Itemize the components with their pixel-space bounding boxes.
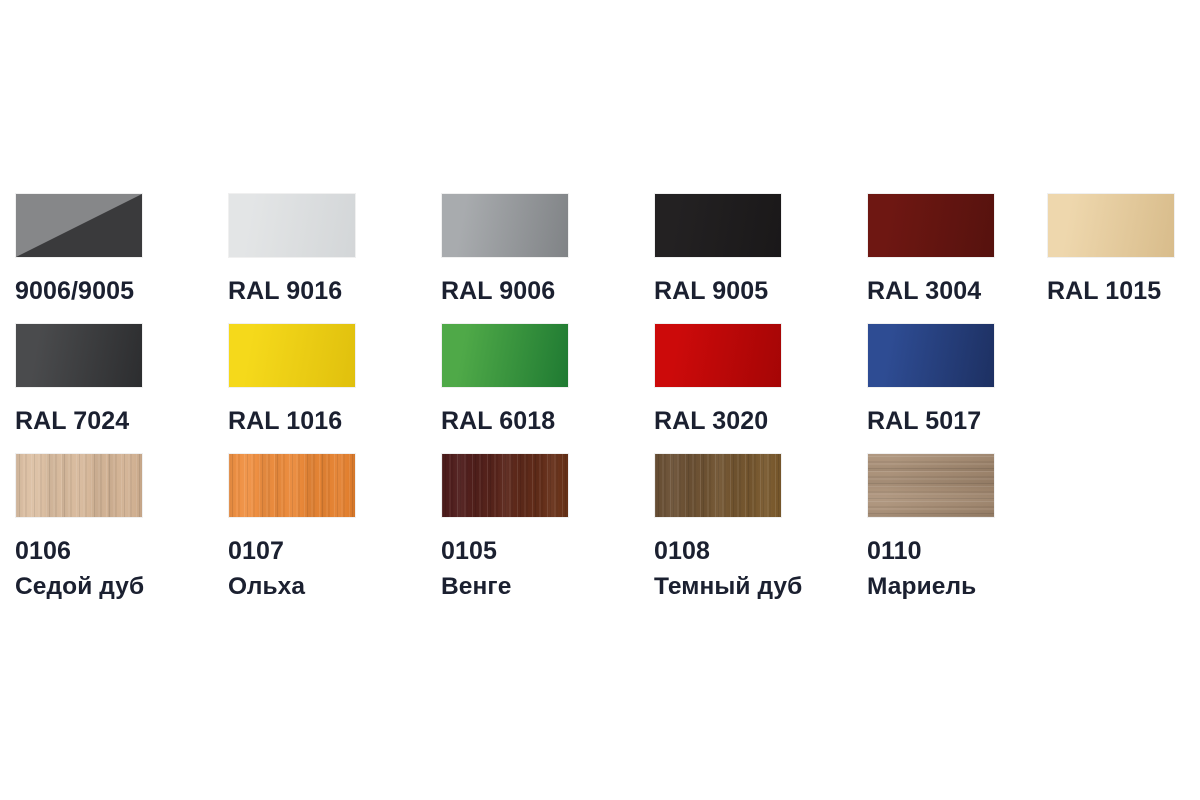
swatch-label-block: 0106Седой дуб bbox=[15, 534, 144, 604]
swatch-code-label: RAL 9006 bbox=[441, 274, 569, 310]
swatch-name-label: Седой дуб bbox=[15, 570, 144, 605]
swatch-code-label: RAL 5017 bbox=[867, 404, 995, 440]
swatch-fill bbox=[655, 454, 781, 517]
swatch-cell-ral-7024[interactable]: RAL 7024 bbox=[15, 323, 143, 440]
swatch-label-block: RAL 1015 bbox=[1047, 274, 1175, 310]
swatch-cell-0108[interactable]: 0108Темный дуб bbox=[654, 453, 802, 604]
swatch-label-block: RAL 9006 bbox=[441, 274, 569, 310]
swatch-label-block: RAL 9005 bbox=[654, 274, 782, 310]
swatch-fill bbox=[1048, 194, 1174, 257]
swatch-cell-9006-9005[interactable]: 9006/9005 bbox=[15, 193, 143, 310]
swatch-name-label: Ольха bbox=[228, 570, 356, 605]
swatch-label-block: 9006/9005 bbox=[15, 274, 143, 310]
swatch-code-label: 0105 bbox=[441, 534, 569, 570]
swatch-cell-0106[interactable]: 0106Седой дуб bbox=[15, 453, 144, 604]
swatch-chip[interactable] bbox=[867, 323, 995, 388]
swatch-code-label: 0107 bbox=[228, 534, 356, 570]
swatch-label-block: 0108Темный дуб bbox=[654, 534, 802, 604]
swatch-code-label: RAL 9016 bbox=[228, 274, 356, 310]
swatch-code-label: 0108 bbox=[654, 534, 802, 570]
swatch-chip[interactable] bbox=[1047, 193, 1175, 258]
swatch-fill bbox=[655, 194, 781, 257]
swatch-code-label: RAL 3020 bbox=[654, 404, 782, 440]
swatch-label-block: RAL 3004 bbox=[867, 274, 995, 310]
swatch-name-label: Темный дуб bbox=[654, 570, 802, 605]
swatch-label-block: 0107Ольха bbox=[228, 534, 356, 604]
swatch-fill bbox=[16, 454, 142, 517]
swatch-name-label: Венге bbox=[441, 570, 569, 605]
swatch-chip[interactable] bbox=[867, 193, 995, 258]
swatch-code-label: RAL 7024 bbox=[15, 404, 143, 440]
swatch-cell-0107[interactable]: 0107Ольха bbox=[228, 453, 356, 604]
swatch-code-label: 0106 bbox=[15, 534, 144, 570]
swatch-chip[interactable] bbox=[15, 193, 143, 258]
swatch-chip[interactable] bbox=[15, 323, 143, 388]
swatch-code-label: 9006/9005 bbox=[15, 274, 143, 310]
swatch-chip[interactable] bbox=[441, 323, 569, 388]
swatch-cell-ral-3020[interactable]: RAL 3020 bbox=[654, 323, 782, 440]
swatch-label-block: RAL 7024 bbox=[15, 404, 143, 440]
swatch-code-label: RAL 1015 bbox=[1047, 274, 1175, 310]
swatch-cell-ral-1016[interactable]: RAL 1016 bbox=[228, 323, 356, 440]
swatch-cell-ral-1015[interactable]: RAL 1015 bbox=[1047, 193, 1175, 310]
swatch-fill bbox=[229, 194, 355, 257]
swatch-fill bbox=[442, 194, 568, 257]
swatch-chip[interactable] bbox=[228, 453, 356, 518]
color-palette-board: 9006/9005RAL 9016RAL 9006RAL 9005RAL 300… bbox=[0, 0, 1200, 800]
swatch-chip[interactable] bbox=[15, 453, 143, 518]
swatch-chip[interactable] bbox=[654, 193, 782, 258]
swatch-fill bbox=[868, 324, 994, 387]
swatch-chip[interactable] bbox=[654, 453, 782, 518]
swatch-label-block: 0105Венге bbox=[441, 534, 569, 604]
swatch-cell-0110[interactable]: 0110Мариель bbox=[867, 453, 995, 604]
swatch-cell-ral-9016[interactable]: RAL 9016 bbox=[228, 193, 356, 310]
swatch-code-label: RAL 9005 bbox=[654, 274, 782, 310]
swatch-chip[interactable] bbox=[228, 193, 356, 258]
swatch-cell-ral-3004[interactable]: RAL 3004 bbox=[867, 193, 995, 310]
swatch-fill bbox=[442, 454, 568, 517]
swatch-fill bbox=[868, 194, 994, 257]
swatch-label-block: RAL 6018 bbox=[441, 404, 569, 440]
swatch-fill bbox=[229, 324, 355, 387]
swatch-cell-ral-5017[interactable]: RAL 5017 bbox=[867, 323, 995, 440]
swatch-fill bbox=[442, 324, 568, 387]
swatch-fill bbox=[229, 454, 355, 517]
swatch-chip[interactable] bbox=[441, 193, 569, 258]
swatch-chip[interactable] bbox=[228, 323, 356, 388]
swatch-chip[interactable] bbox=[867, 453, 995, 518]
swatch-label-block: RAL 3020 bbox=[654, 404, 782, 440]
swatch-cell-ral-6018[interactable]: RAL 6018 bbox=[441, 323, 569, 440]
swatch-cell-0105[interactable]: 0105Венге bbox=[441, 453, 569, 604]
swatch-label-block: RAL 5017 bbox=[867, 404, 995, 440]
swatch-code-label: RAL 6018 bbox=[441, 404, 569, 440]
swatch-label-block: 0110Мариель bbox=[867, 534, 995, 604]
swatch-code-label: RAL 3004 bbox=[867, 274, 995, 310]
swatch-fill bbox=[655, 324, 781, 387]
swatch-name-label: Мариель bbox=[867, 570, 995, 605]
swatch-cell-ral-9005[interactable]: RAL 9005 bbox=[654, 193, 782, 310]
swatch-label-block: RAL 9016 bbox=[228, 274, 356, 310]
swatch-chip[interactable] bbox=[441, 453, 569, 518]
swatch-code-label: RAL 1016 bbox=[228, 404, 356, 440]
swatch-fill bbox=[16, 324, 142, 387]
swatch-label-block: RAL 1016 bbox=[228, 404, 356, 440]
swatch-cell-ral-9006[interactable]: RAL 9006 bbox=[441, 193, 569, 310]
swatch-fill bbox=[868, 454, 994, 517]
swatch-chip[interactable] bbox=[654, 323, 782, 388]
swatch-code-label: 0110 bbox=[867, 534, 995, 570]
